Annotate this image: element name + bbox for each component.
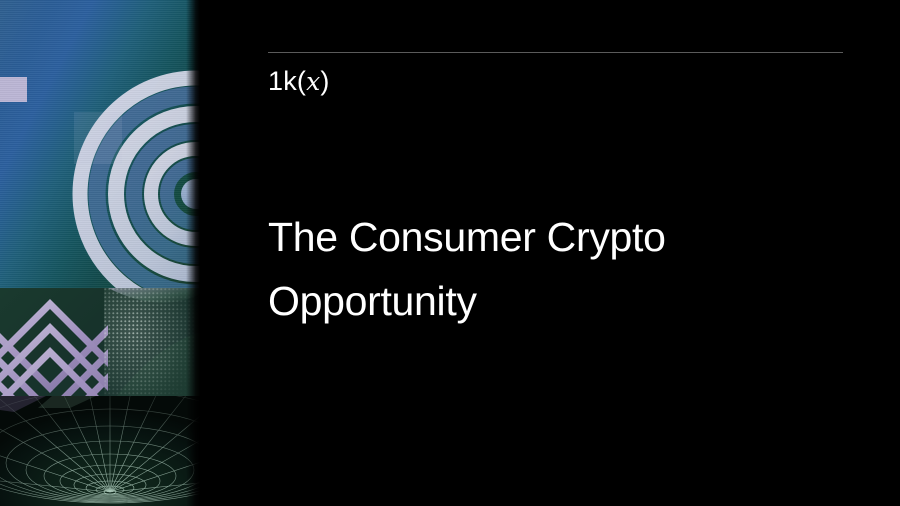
logo-variable-x: x (306, 67, 320, 96)
logo-suffix: ) (320, 66, 329, 96)
content-area: 1k(x) The Consumer Crypto Opportunity (200, 0, 900, 506)
page-title: The Consumer Crypto Opportunity (268, 205, 868, 333)
gradient-rings-band (0, 0, 200, 300)
artwork-panel (0, 0, 200, 506)
halftone-sphere-graphic (0, 288, 200, 408)
lavender-accent-square (0, 77, 27, 102)
header-divider-rule (268, 52, 843, 53)
slide-canvas: 1k(x) The Consumer Crypto Opportunity (0, 0, 900, 506)
wireframe-funnel-band (0, 396, 200, 506)
gravity-well-wireframe-graphic (0, 396, 200, 506)
title-line-2: Opportunity (268, 269, 868, 333)
soft-highlight-rectangle (74, 112, 122, 164)
logo-prefix: 1k( (268, 66, 306, 96)
chevron-halftone-band (0, 288, 200, 408)
brand-logo: 1k(x) (268, 68, 330, 95)
title-line-1: The Consumer Crypto (268, 205, 868, 269)
